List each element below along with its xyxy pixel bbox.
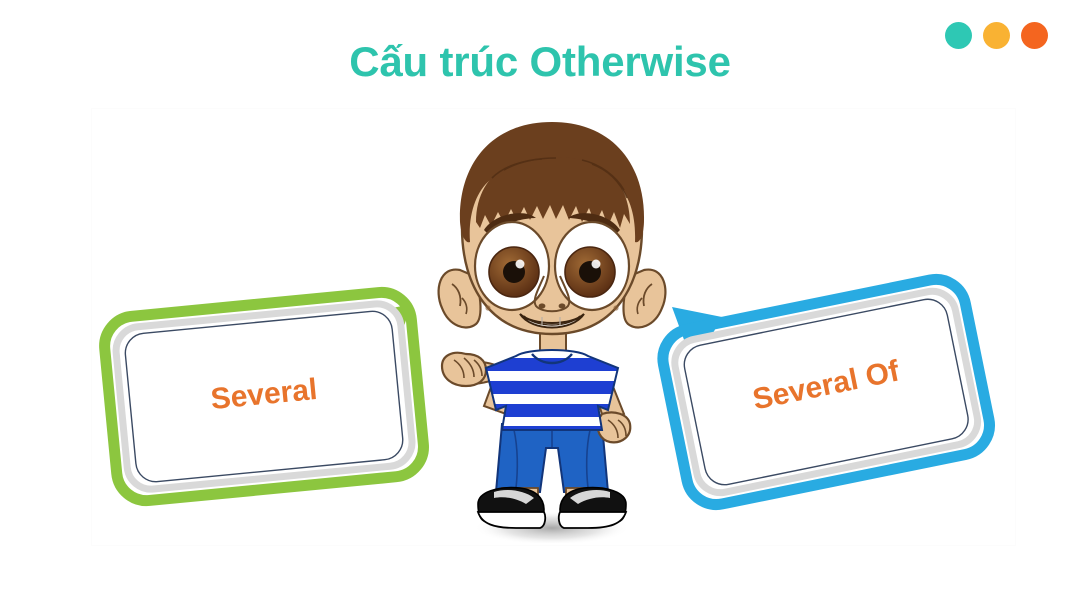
eye-left [475,222,549,310]
speech-bubble-several-of[interactable]: Several Of [666,287,986,487]
eye-highlight-left [516,260,525,269]
eye-right [555,222,629,310]
cheek-left [485,305,490,310]
speech-bubble-several[interactable]: Several [104,292,424,492]
slide-canvas: Cấu trúc Otherwise Several Seve [0,0,1080,607]
page-title: Cấu trúc Otherwise [0,38,1080,86]
shorts [496,424,608,492]
shoe-right [559,488,626,528]
stripe [472,358,642,371]
shoe-left [478,488,545,528]
stripe [472,381,642,394]
cheek-right [613,305,618,310]
cartoon-boy-illustration [432,118,672,543]
eye-highlight-right [592,260,601,269]
cartoon-boy-waving [432,118,672,543]
